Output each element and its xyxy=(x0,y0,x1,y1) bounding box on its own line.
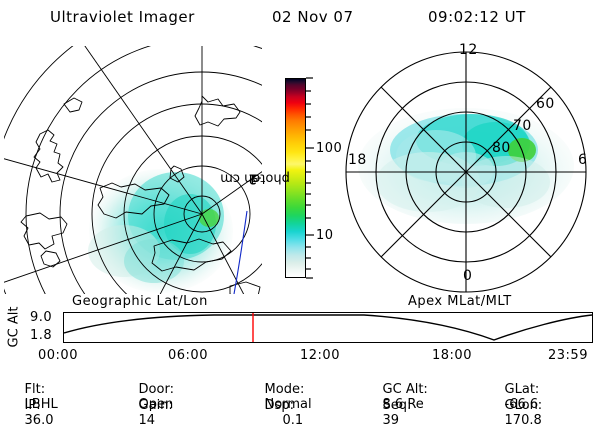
uv-imager-display: Ultraviolet Imager 02 Nov 07 09:02:12 UT xyxy=(0,0,600,400)
status-seq: Seq: 39 xyxy=(366,383,411,443)
status-ip: IP: 36.0 xyxy=(8,383,53,443)
geo-strip-title: Geographic Lat/Lon xyxy=(72,294,208,309)
mlt-strip-title: Apex MLat/MLT xyxy=(408,294,512,309)
gc-alt-tick-low: 1.8 xyxy=(30,328,52,343)
orbit-altitude-plot xyxy=(63,312,593,343)
mlt-spokes xyxy=(346,52,586,292)
status-glon: GLon: 170.8 xyxy=(488,383,542,443)
time-tick-2359: 23:59 xyxy=(548,348,588,363)
mlat-label-80: 80 xyxy=(492,140,511,156)
status-glon-value: 170.8 xyxy=(505,413,542,428)
mlt-label-0: 0 xyxy=(463,268,472,284)
time-tick-1200: 12:00 xyxy=(300,348,340,363)
status-seq-value: 39 xyxy=(383,413,400,428)
mlat-label-60: 60 xyxy=(536,96,555,112)
time-tick-0600: 06:00 xyxy=(168,348,208,363)
colorbar-ticks xyxy=(306,77,314,279)
mlt-label-6: 6 xyxy=(578,152,587,168)
status-seq-label: Seq: xyxy=(383,398,412,413)
colorbar-tick-10: 10 xyxy=(316,228,334,243)
instrument-title: Ultraviolet Imager xyxy=(50,8,195,26)
status-dsp-value: 0.1 xyxy=(283,413,304,428)
mlt-panel xyxy=(336,44,596,296)
gc-alt-tick-high: 9.0 xyxy=(30,310,52,325)
observation-date: 02 Nov 07 xyxy=(272,8,354,26)
status-gain-value: 14 xyxy=(139,413,156,428)
status-gain: Gain: 14 xyxy=(122,383,173,443)
unit-exponent-2: -1 xyxy=(249,171,262,186)
orbit-track-curve xyxy=(64,313,592,342)
observation-time: 09:02:12 UT xyxy=(428,8,526,26)
status-dsp-label: Dsp: xyxy=(265,398,294,413)
mlt-dial-plot xyxy=(336,44,596,296)
status-gain-label: Gain: xyxy=(139,398,173,413)
status-dsp: Dsp: 0.1 xyxy=(248,383,303,443)
time-tick-1800: 18:00 xyxy=(432,348,472,363)
time-tick-0000: 00:00 xyxy=(38,348,78,363)
mlt-label-12: 12 xyxy=(459,42,478,58)
mlat-label-70: 70 xyxy=(513,118,532,134)
mlt-label-18: 18 xyxy=(348,152,367,168)
status-ip-label: IP: xyxy=(25,398,41,413)
status-glon-label: GLon: xyxy=(505,398,543,413)
status-ip-value: 36.0 xyxy=(25,413,54,428)
